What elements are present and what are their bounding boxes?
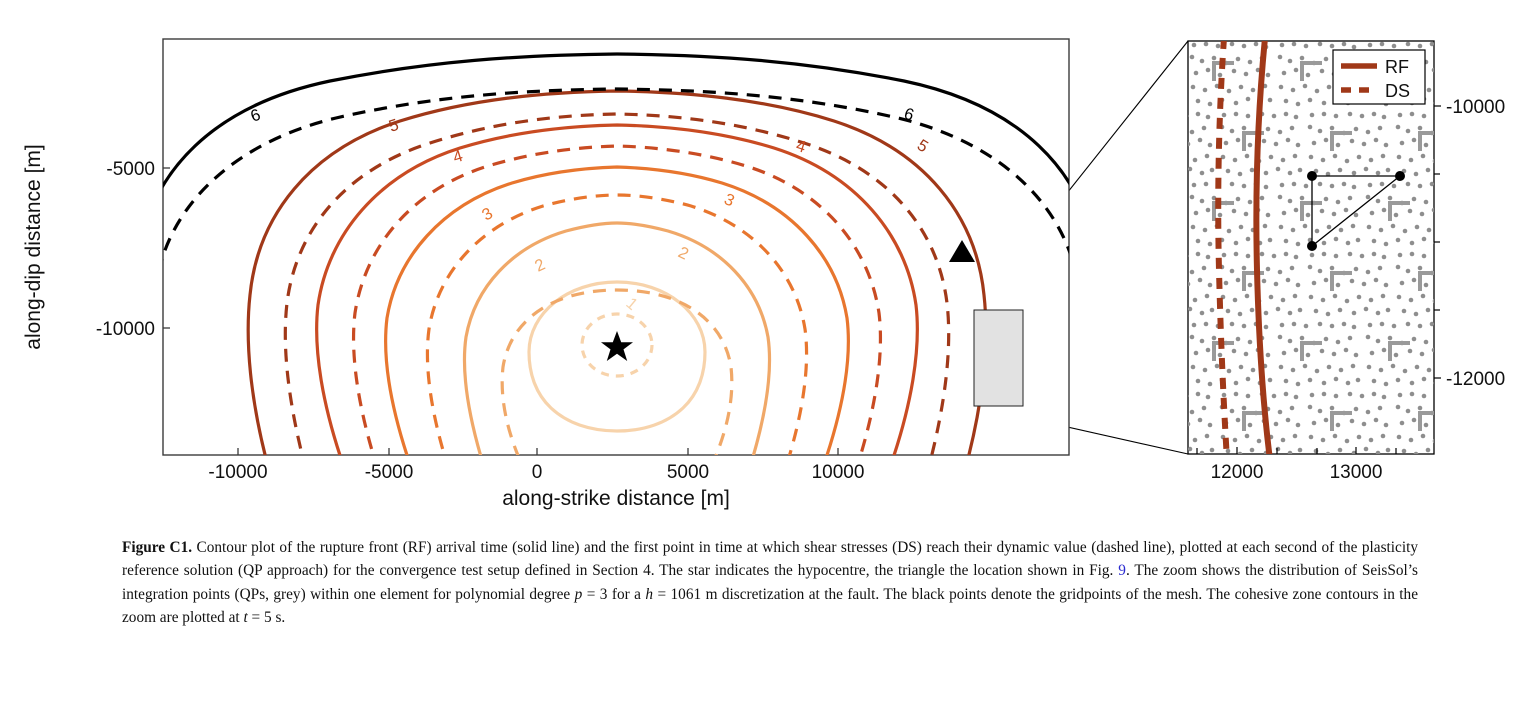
integration-point: [1352, 185, 1357, 190]
integration-point: [1232, 209, 1237, 214]
integration-point: [1160, 340, 1165, 345]
integration-point: [1218, 493, 1223, 498]
integration-point: [1364, 167, 1369, 172]
element-corner-mark: [1126, 63, 1146, 81]
integration-point: [1248, 143, 1253, 148]
integration-point: [1418, 266, 1423, 271]
integration-point: [1436, 476, 1441, 481]
integration-point: [1133, 435, 1138, 440]
integration-point: [1239, 225, 1244, 230]
integration-point: [1139, 89, 1144, 94]
integration-point: [1462, 418, 1467, 423]
integration-point: [1300, 476, 1305, 481]
integration-point: [1193, 298, 1198, 303]
integration-point: [1384, 382, 1389, 387]
integration-point: [1503, 225, 1508, 230]
integration-point: [1200, 479, 1205, 484]
integration-point: [1215, 364, 1220, 369]
integration-point: [1186, 422, 1191, 427]
integration-point: [1454, 410, 1459, 415]
x-tick-label: 10000: [812, 462, 865, 483]
integration-point: [1288, 199, 1293, 204]
integration-point: [1462, 278, 1467, 283]
integration-point: [1440, 31, 1445, 36]
integration-point: [1436, 252, 1441, 257]
integration-point: [1245, 294, 1250, 299]
integration-point: [1103, 505, 1108, 510]
integration-point: [1254, 42, 1259, 47]
integration-point: [1204, 462, 1209, 467]
integration-point: [1284, 379, 1289, 384]
integration-point: [1282, 491, 1287, 496]
integration-point: [1208, 3, 1213, 8]
integration-point: [1464, 199, 1469, 204]
integration-point: [1160, 143, 1165, 148]
integration-point: [1491, 89, 1496, 94]
integration-point: [1526, 279, 1531, 284]
integration-point: [1326, 312, 1331, 317]
integration-point: [1515, 228, 1520, 233]
integration-point: [1357, 435, 1362, 440]
integration-point: [1336, 423, 1341, 428]
integration-point: [1524, 336, 1529, 341]
integration-point: [1308, 378, 1313, 383]
integration-point: [1279, 85, 1284, 90]
integration-point: [1342, 42, 1347, 47]
integration-point: [1156, 212, 1161, 217]
integration-point: [1200, 339, 1205, 344]
integration-point: [1116, 42, 1121, 47]
integration-point: [1320, 349, 1325, 354]
integration-point: [1344, 208, 1349, 213]
integration-point: [1506, 266, 1511, 271]
integration-point: [1334, 114, 1339, 119]
integration-point: [1234, 381, 1239, 386]
integration-point: [1274, 2, 1279, 7]
integration-point: [1352, 31, 1357, 36]
integration-point: [1274, 282, 1279, 287]
integration-point: [1127, 504, 1132, 509]
integration-point: [1502, 32, 1507, 37]
integration-point: [1496, 69, 1501, 74]
integration-point: [1436, 392, 1441, 397]
integration-point: [1150, 172, 1155, 177]
integration-point: [1336, 143, 1341, 148]
integration-point: [1391, 224, 1396, 229]
integration-point: [1115, 368, 1120, 373]
integration-point: [1286, 0, 1291, 2]
integration-point: [1500, 138, 1505, 143]
integration-point: [1396, 265, 1401, 270]
integration-point: [1414, 312, 1419, 317]
caption-text-p-eq: = 3 for a: [582, 586, 645, 603]
integration-point: [1518, 182, 1523, 187]
integration-point: [1312, 421, 1317, 426]
integration-point: [1488, 421, 1493, 426]
integration-point: [1278, 55, 1283, 60]
integration-point: [1142, 409, 1147, 414]
integration-point: [1494, 129, 1499, 134]
integration-point: [1372, 392, 1377, 397]
integration-point: [1248, 423, 1253, 428]
integration-point: [1530, 73, 1535, 78]
integration-point: [1154, 44, 1159, 49]
integration-point: [1190, 55, 1195, 60]
integration-point: [1327, 505, 1332, 510]
integration-point: [1170, 381, 1175, 386]
integration-point: [1436, 112, 1441, 117]
integration-point: [1430, 322, 1435, 327]
integration-point: [1130, 213, 1135, 218]
integration-point: [1230, 182, 1235, 187]
integration-point: [1364, 27, 1369, 32]
integration-point: [1244, 492, 1249, 497]
integration-point: [1510, 254, 1515, 259]
integration-point: [1490, 449, 1495, 454]
integration-point: [1278, 475, 1283, 480]
integration-point: [1246, 377, 1251, 382]
integration-point: [1352, 311, 1357, 316]
integration-point: [1362, 2, 1367, 7]
integration-point: [1226, 169, 1231, 174]
integration-point: [1469, 434, 1474, 439]
integration-point: [1527, 224, 1532, 229]
integration-point: [1142, 42, 1147, 47]
integration-point: [1166, 271, 1171, 276]
integration-point: [1156, 492, 1161, 497]
integration-point: [1176, 45, 1181, 50]
integration-point: [1400, 281, 1405, 286]
integration-point: [1410, 241, 1415, 246]
integration-point: [1480, 44, 1485, 49]
integration-point: [1158, 377, 1163, 382]
integration-point: [1508, 72, 1513, 77]
integration-point: [1134, 393, 1139, 398]
integration-point: [1134, 253, 1139, 258]
integration-point: [1180, 238, 1185, 243]
integration-point: [1272, 394, 1277, 399]
integration-point: [1422, 394, 1427, 399]
integration-point: [1344, 348, 1349, 353]
integration-point: [1324, 337, 1329, 342]
integration-point: [1190, 335, 1195, 340]
integration-point: [1432, 208, 1437, 213]
integration-point: [1333, 294, 1338, 299]
integration-point: [1348, 392, 1353, 397]
integration-point: [1402, 29, 1407, 34]
integration-point: [1474, 28, 1479, 33]
integration-point: [1192, 463, 1197, 468]
integration-point: [1281, 158, 1286, 163]
integration-point: [1157, 434, 1162, 439]
integration-point: [1202, 266, 1207, 271]
integration-point: [1132, 405, 1137, 410]
integration-point: [1384, 283, 1389, 288]
integration-point: [1163, 508, 1168, 510]
integration-point: [1106, 211, 1111, 216]
integration-point: [1466, 406, 1471, 411]
integration-point: [1440, 311, 1445, 316]
integration-point: [1400, 481, 1405, 486]
y-axis-title: along-dip distance [m]: [22, 144, 45, 349]
integration-point: [1508, 492, 1513, 497]
integration-point: [1409, 158, 1414, 163]
integration-point: [1424, 143, 1429, 148]
integration-point: [1439, 224, 1444, 229]
inset-plot: RF DS 12000 13000: [1102, 0, 1540, 510]
integration-point: [1312, 141, 1317, 146]
integration-point: [1245, 154, 1250, 159]
integration-point: [1381, 154, 1386, 159]
integration-point: [1112, 479, 1117, 484]
integration-point: [1251, 88, 1256, 93]
integration-point: [1193, 158, 1198, 163]
integration-point: [1396, 405, 1401, 410]
integration-point: [1430, 462, 1435, 467]
integration-point: [1318, 322, 1323, 327]
integration-point: [1391, 364, 1396, 369]
integration-point: [1244, 212, 1249, 217]
integration-point: [1381, 14, 1386, 19]
integration-point: [1136, 1, 1141, 6]
integration-point: [1236, 0, 1241, 2]
integration-point: [1345, 299, 1350, 304]
integration-point: [1150, 452, 1155, 457]
integration-point: [1464, 479, 1469, 484]
integration-point: [1498, 241, 1503, 246]
integration-point: [1479, 504, 1484, 509]
integration-point: [1336, 283, 1341, 288]
integration-point: [1315, 509, 1320, 510]
integration-point: [1454, 130, 1459, 135]
integration-point: [1502, 452, 1507, 457]
integration-point: [1432, 488, 1437, 493]
integration-point: [1464, 339, 1469, 344]
integration-point: [1278, 195, 1283, 200]
integration-point: [1412, 0, 1417, 2]
integration-point: [1168, 348, 1173, 353]
integration-point: [1162, 308, 1167, 313]
integration-point: [1198, 0, 1203, 2]
integration-point: [1154, 406, 1159, 411]
integration-point: [1338, 168, 1343, 173]
integration-point: [1500, 337, 1505, 342]
integration-point: [1457, 18, 1462, 23]
integration-point: [1166, 411, 1171, 416]
legend-label-rf: RF: [1385, 57, 1409, 77]
integration-point: [1360, 254, 1365, 259]
integration-point: [1234, 392, 1239, 397]
integration-point: [1386, 448, 1391, 453]
integration-point: [1168, 208, 1173, 213]
integration-point: [1322, 392, 1327, 397]
integration-point: [1406, 129, 1411, 134]
integration-point: [1467, 88, 1472, 93]
integration-point: [1360, 394, 1365, 399]
integration-point: [1464, 59, 1469, 64]
integration-point: [1338, 448, 1343, 453]
integration-point: [1321, 438, 1326, 443]
integration-point: [1402, 449, 1407, 454]
integration-point: [1136, 201, 1141, 206]
integration-point: [1192, 183, 1197, 188]
integration-point: [1232, 69, 1237, 74]
integration-point: [1180, 378, 1185, 383]
integration-point: [1124, 196, 1129, 201]
integration-point: [1414, 172, 1419, 177]
integration-point: [1318, 462, 1323, 467]
integration-point: [1462, 0, 1467, 2]
integration-point: [1320, 489, 1325, 494]
integration-point: [1170, 101, 1175, 106]
integration-point: [1334, 254, 1339, 259]
integration-point: [1324, 57, 1329, 62]
element-corner-mark: [1420, 0, 1440, 11]
integration-point: [1208, 423, 1213, 428]
integration-point: [1288, 31, 1293, 36]
integration-point: [1376, 311, 1381, 316]
integration-point: [1520, 488, 1525, 493]
integration-point: [1150, 32, 1155, 37]
integration-point: [1146, 101, 1151, 106]
integration-point: [1412, 337, 1417, 342]
integration-point: [1145, 18, 1150, 23]
integration-point: [1412, 418, 1417, 423]
mesh-gridpoint: [1307, 171, 1317, 181]
integration-point: [1394, 353, 1399, 358]
integration-point: [1364, 307, 1369, 312]
integration-point: [1420, 212, 1425, 217]
integration-point: [1318, 409, 1323, 414]
x-tick-label: -10000: [208, 462, 267, 483]
integration-point: [1115, 88, 1120, 93]
integration-point: [1196, 379, 1201, 384]
integration-point: [1160, 60, 1165, 65]
integration-point: [1280, 323, 1285, 328]
integration-point: [1527, 504, 1532, 509]
integration-point: [1382, 395, 1387, 400]
integration-point: [1418, 126, 1423, 131]
integration-point: [1151, 365, 1156, 370]
integration-point: [1520, 348, 1525, 353]
integration-point: [1470, 68, 1475, 73]
integration-point: [1396, 238, 1401, 243]
integration-point: [1382, 208, 1387, 213]
integration-point: [1244, 352, 1249, 357]
integration-point: [1421, 294, 1426, 299]
integration-point: [1315, 229, 1320, 234]
integration-point: [1280, 43, 1285, 48]
integration-point: [1106, 351, 1111, 356]
integration-point: [1327, 225, 1332, 230]
integration-point: [1266, 493, 1271, 498]
integration-point: [1380, 182, 1385, 187]
integration-point: [1298, 168, 1303, 173]
integration-point: [1388, 336, 1393, 341]
integration-point: [1386, 28, 1391, 33]
integration-point: [1528, 31, 1533, 36]
integration-point: [1303, 84, 1308, 89]
integration-point: [1166, 462, 1171, 467]
integration-point: [1248, 200, 1253, 205]
integration-point: [1128, 324, 1133, 329]
integration-point: [1210, 308, 1215, 313]
integration-point: [1352, 45, 1357, 50]
integration-point: [1196, 112, 1201, 117]
integration-point: [1350, 279, 1355, 284]
integration-point: [1320, 209, 1325, 214]
integration-point: [1476, 476, 1481, 481]
integration-point: [1191, 505, 1196, 510]
integration-point: [1515, 88, 1520, 93]
integration-point: [1386, 168, 1391, 173]
mesh-gridpoint: [1395, 171, 1405, 181]
integration-point: [1424, 3, 1429, 8]
integration-point: [1506, 126, 1511, 131]
integration-point: [1536, 394, 1540, 399]
integration-point: [1145, 298, 1150, 303]
integration-point: [1146, 252, 1151, 257]
integration-point: [1226, 29, 1231, 34]
integration-point: [1282, 71, 1287, 76]
integration-point: [1248, 340, 1253, 345]
integration-point: [1120, 382, 1125, 387]
integration-point: [1138, 169, 1143, 174]
caption-symbol-h: h: [645, 586, 653, 603]
integration-point: [1203, 228, 1208, 233]
integration-point: [1486, 393, 1491, 398]
integration-point: [1169, 299, 1174, 304]
integration-point: [1196, 99, 1201, 104]
integration-point: [1412, 197, 1417, 202]
integration-point: [1276, 307, 1281, 312]
integration-point: [1456, 43, 1461, 48]
integration-point: [1154, 324, 1159, 329]
integration-point: [1146, 241, 1151, 246]
integration-point: [1440, 171, 1445, 176]
integration-point: [1280, 183, 1285, 188]
integration-point: [1293, 14, 1298, 19]
integration-point: [1146, 392, 1151, 397]
integration-point: [1536, 114, 1540, 119]
integration-point: [1439, 364, 1444, 369]
integration-point: [1174, 279, 1179, 284]
integration-point: [1440, 451, 1445, 456]
integration-point: [1367, 225, 1372, 230]
integration-point: [1304, 324, 1309, 329]
integration-point: [1522, 101, 1527, 106]
integration-point: [1420, 352, 1425, 357]
integration-point: [1136, 421, 1141, 426]
integration-point: [1234, 112, 1239, 117]
integration-point: [1464, 31, 1469, 36]
integration-point: [1398, 253, 1403, 258]
integration-point: [1452, 447, 1457, 452]
integration-point: [1440, 45, 1445, 50]
integration-point: [1158, 97, 1163, 102]
integration-point: [1368, 183, 1373, 188]
integration-point: [1190, 410, 1195, 415]
integration-point: [1278, 410, 1283, 415]
integration-point: [1494, 269, 1499, 274]
integration-point: [1130, 353, 1135, 358]
integration-point: [1427, 88, 1432, 93]
integration-point: [1530, 353, 1535, 358]
integration-point: [1108, 99, 1113, 104]
caption-figure-reference-link[interactable]: 9: [1118, 562, 1126, 579]
integration-point: [1234, 241, 1239, 246]
integration-point: [1218, 353, 1223, 358]
